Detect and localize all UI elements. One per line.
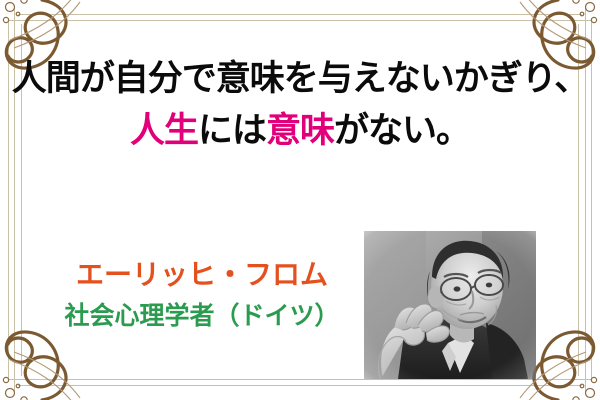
- frame-line-top-outer: [18, 14, 582, 15]
- quote-card: 人間が自分で意味を与えないかぎり、 人生には意味がない。 エーリッヒ・フロム 社…: [0, 0, 600, 400]
- author-role: 社会心理学者（ドイツ）: [52, 301, 352, 332]
- frame-line-bottom-inner: [8, 379, 592, 380]
- author-portrait: [364, 231, 536, 379]
- attribution-block: エーリッヒ・フロム 社会心理学者（ドイツ）: [52, 258, 352, 332]
- quote-line-1: 人間が自分で意味を与えないかぎり、: [0, 58, 600, 101]
- frame-line-top-inner: [8, 20, 592, 21]
- frame-line-bottom-outer: [18, 385, 582, 386]
- author-name: エーリッヒ・フロム: [52, 258, 352, 293]
- quote-text-niwa: には: [198, 111, 266, 150]
- quote-highlight-meaning: 意味: [266, 111, 334, 150]
- quote-text-ganai: がない。: [334, 111, 470, 150]
- quote-line-2: 人生には意味がない。: [0, 110, 600, 153]
- quote-block: 人間が自分で意味を与えないかぎり、 人生には意味がない。: [0, 58, 600, 152]
- quote-highlight-life: 人生: [130, 111, 198, 150]
- author-portrait-image: [364, 231, 536, 379]
